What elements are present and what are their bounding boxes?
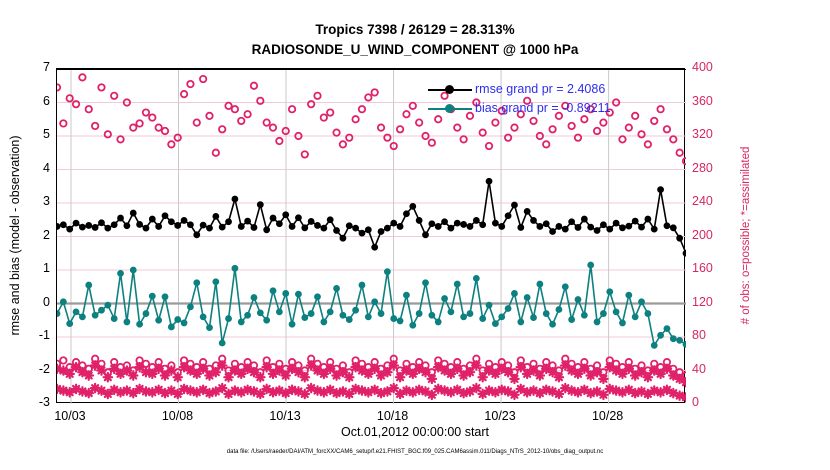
y-tick-right-6: 240 <box>692 194 738 208</box>
y-tick-left-5: 2 <box>10 228 50 242</box>
y-tick-left-0: -3 <box>10 395 50 409</box>
y-tick-right-2: 80 <box>692 328 738 342</box>
y-tick-right-1: 40 <box>692 362 738 376</box>
x-tick-5: 10/28 <box>573 409 643 423</box>
y-tick-left-8: 5 <box>10 127 50 141</box>
y-tick-right-8: 320 <box>692 127 738 141</box>
legend-item-rmse[interactable]: rmse grand pr = 2.4086 <box>428 80 668 99</box>
chart-title-line2: RADIOSONDE_U_WIND_COMPONENT @ 1000 hPa <box>0 40 830 60</box>
chart-legend: rmse grand pr = 2.4086 bias grand pr = -… <box>428 80 668 118</box>
y-tick-right-10: 400 <box>692 60 738 74</box>
y-tick-left-10: 7 <box>10 60 50 74</box>
legend-label-bias: bias grand pr = -0.89211 <box>475 99 611 118</box>
y-tick-right-5: 200 <box>692 228 738 242</box>
y-tick-left-7: 4 <box>10 161 50 175</box>
x-tick-4: 10/23 <box>465 409 535 423</box>
y-axis-right-label-wrap: # of obs: o=possible; *=assimilated <box>740 0 760 470</box>
y-tick-right-7: 280 <box>692 161 738 175</box>
plot-area[interactable] <box>56 68 685 403</box>
legend-item-bias[interactable]: bias grand pr = -0.89211 <box>428 99 668 118</box>
chart-title: Tropics 7398 / 26129 = 28.313% RADIOSOND… <box>0 20 830 60</box>
legend-swatch-bias <box>428 102 472 116</box>
data-file-footer: data file: /Users/raeder/DAI/ATM_forcXX/… <box>0 449 830 455</box>
y-tick-right-4: 160 <box>692 261 738 275</box>
x-tick-2: 10/13 <box>250 409 320 423</box>
x-axis-label: Oct.01,2012 00:00:00 start <box>0 425 830 439</box>
plot-canvas <box>57 69 686 404</box>
y-tick-left-9: 6 <box>10 94 50 108</box>
legend-swatch-rmse <box>428 83 472 97</box>
y-tick-right-9: 360 <box>692 94 738 108</box>
y-tick-left-4: 1 <box>10 261 50 275</box>
y-tick-left-1: -2 <box>10 362 50 376</box>
y-tick-right-3: 120 <box>692 295 738 309</box>
x-tick-1: 10/08 <box>142 409 212 423</box>
y-axis-right-label: # of obs: o=possible; *=assimilated <box>740 68 752 403</box>
x-tick-3: 10/18 <box>358 409 428 423</box>
chart-title-line1: Tropics 7398 / 26129 = 28.313% <box>0 20 830 40</box>
y-tick-right-0: 0 <box>692 395 738 409</box>
y-tick-left-3: 0 <box>10 295 50 309</box>
legend-label-rmse: rmse grand pr = 2.4086 <box>475 80 605 99</box>
x-tick-0: 10/03 <box>35 409 105 423</box>
y-tick-left-2: -1 <box>10 328 50 342</box>
y-tick-left-6: 3 <box>10 194 50 208</box>
